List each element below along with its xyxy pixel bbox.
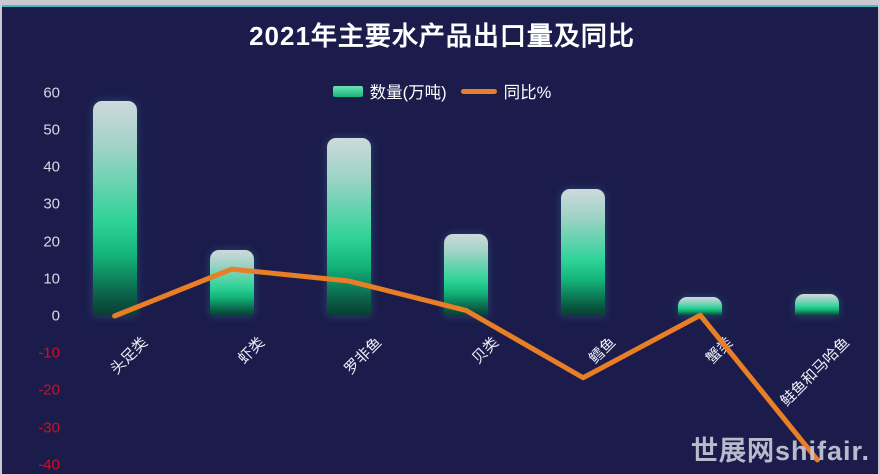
y-axis-tick-label: 20 [14,233,60,250]
plot-area: 头足类虾类罗非鱼贝类鳕鱼蟹类鲑鱼和马哈鱼 [60,5,880,474]
x-axis-tick-label: 贝类 [467,332,503,368]
bar-6[interactable] [795,294,839,316]
site-watermark: 世展网shifair. [691,429,870,468]
y-axis-tick-label: 10 [14,270,60,287]
bar-2[interactable] [327,138,371,316]
y-axis-tick-label: 30 [14,196,60,213]
y-axis: 6050403020100-10-20-30-40 [2,5,60,474]
y-axis-tick-label: 40 [14,159,60,176]
bar-5[interactable] [678,297,722,316]
y-axis-tick-label: 0 [14,308,60,325]
y-axis-tick-label: -30 [14,419,60,436]
x-axis-tick-label: 蟹类 [701,332,737,368]
y-axis-tick-label: 50 [14,122,60,139]
x-axis-tick-label: 鳕鱼 [584,332,620,368]
bar-4[interactable] [561,189,605,316]
bar-0[interactable] [93,101,137,316]
bar-1[interactable] [210,250,254,316]
zero-baseline [2,5,880,7]
x-axis-tick-label: 罗非鱼 [339,332,386,379]
x-axis-tick-label: 鲑鱼和马哈鱼 [776,332,854,410]
bar-3[interactable] [444,234,488,316]
y-axis-tick-label: 60 [14,84,60,101]
y-axis-tick-label: -20 [14,382,60,399]
x-axis-tick-label: 虾类 [232,332,268,368]
y-axis-tick-label: -40 [14,456,60,473]
x-axis-tick-label: 头足类 [105,332,152,379]
chart-canvas: 2021年主要水产品出口量及同比 数量(万吨) 同比% 605040302010… [0,0,880,474]
y-axis-tick-label: -10 [14,345,60,362]
